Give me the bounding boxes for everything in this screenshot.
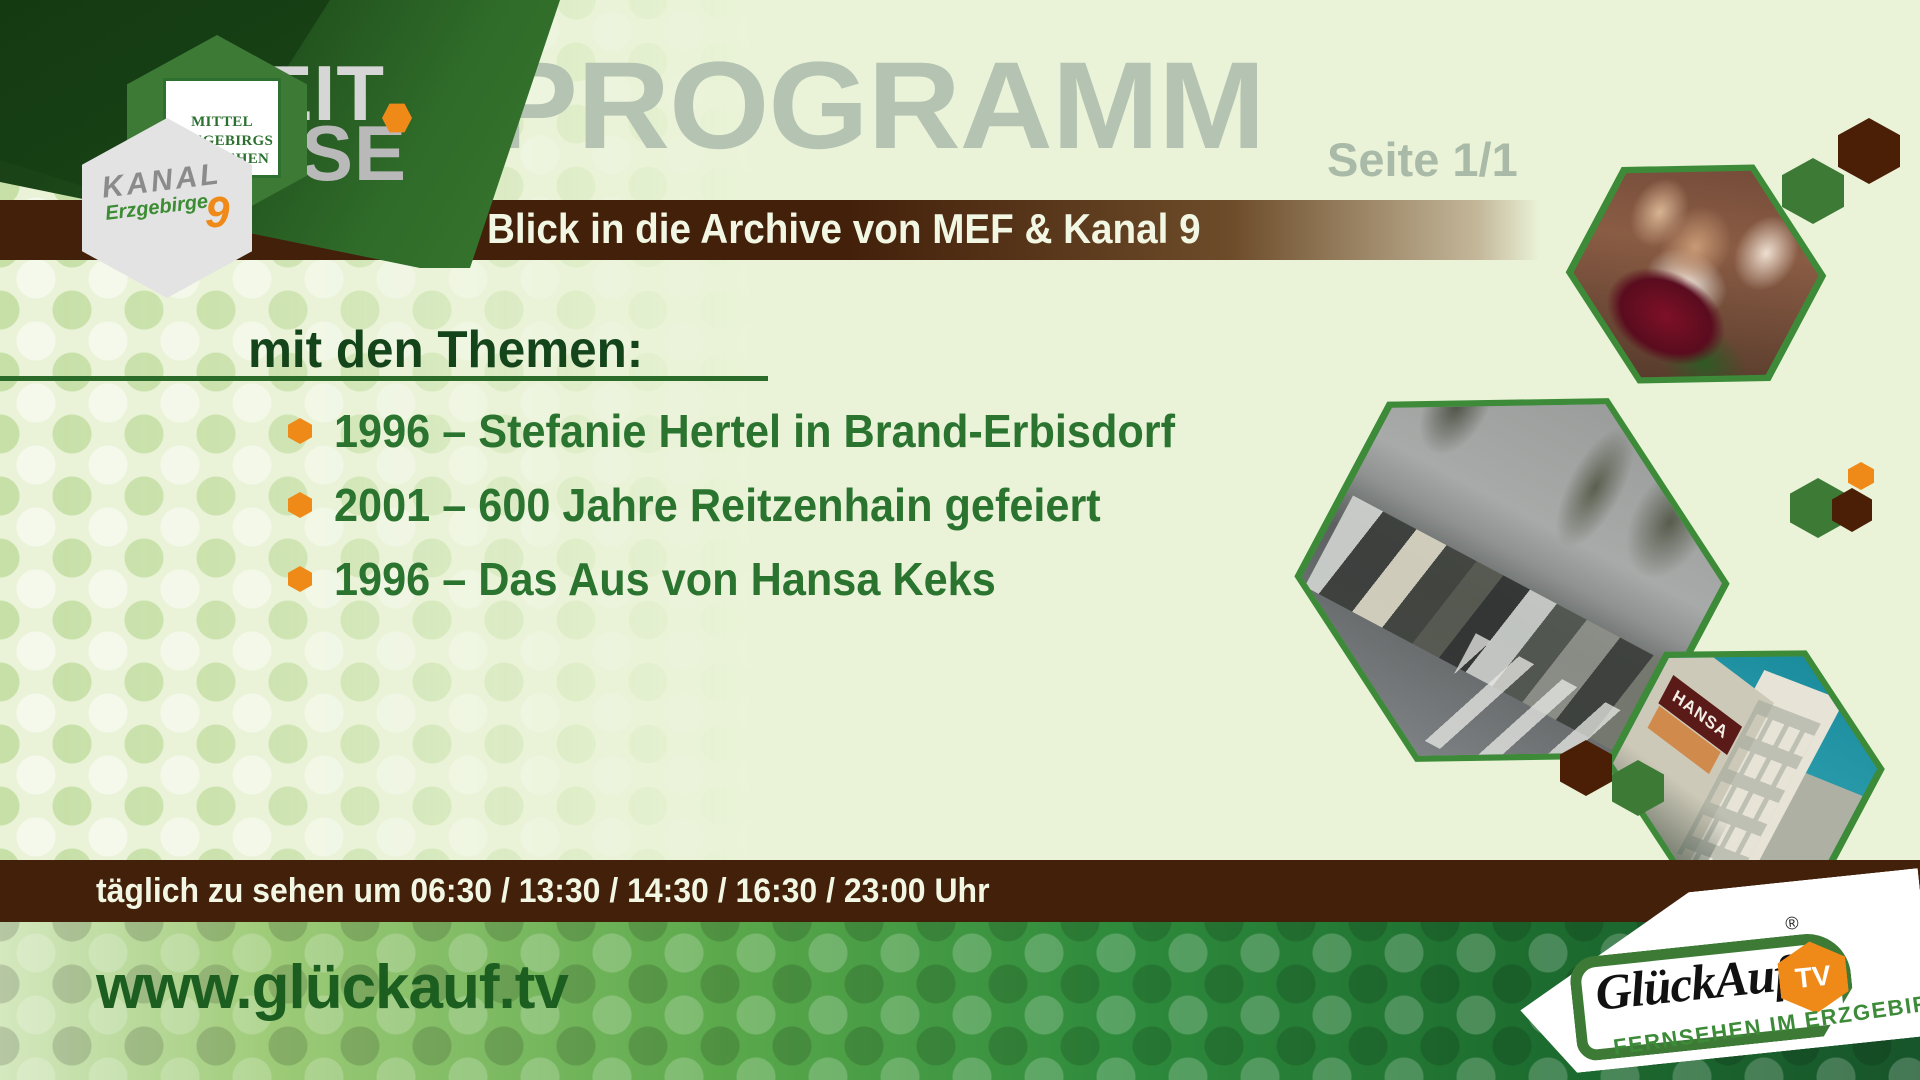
tv-badge-label: TV <box>1794 960 1833 996</box>
topics-heading: mit den Themen: <box>248 320 643 380</box>
schedule-text: täglich zu sehen um 06:30 / 13:30 / 14:3… <box>96 872 990 911</box>
orange-hexagon-bullet-icon <box>288 566 312 592</box>
list-item: 1996 – Stefanie Hertel in Brand-Erbisdor… <box>288 404 1229 458</box>
topic-label: 2001 – 600 Jahre Reitzenhain gefeiert <box>334 478 1101 532</box>
website-url[interactable]: www.glückauf.tv <box>96 952 568 1023</box>
topic-label: 1996 – Stefanie Hertel in Brand-Erbisdor… <box>334 404 1175 458</box>
page-title: PROGRAMM <box>492 44 1265 168</box>
page-subtitle: Blick in die Archive von MEF & Kanal 9 <box>487 205 1201 253</box>
kanal9-number: 9 <box>205 188 229 238</box>
page-indicator: Seite 1/1 <box>1327 132 1518 187</box>
orange-hexagon-bullet-icon <box>288 492 312 518</box>
list-item: 1996 – Das Aus von Hansa Keks <box>288 552 1038 606</box>
topic-label: 1996 – Das Aus von Hansa Keks <box>334 552 996 606</box>
orange-hexagon-bullet-icon <box>288 418 312 444</box>
registered-trademark-icon: ® <box>1784 913 1799 935</box>
mef-line-1: MITTEL <box>191 113 253 132</box>
list-item: 2001 – 600 Jahre Reitzenhain gefeiert <box>288 478 1150 532</box>
tv-program-slide: PROGRAMM Seite 1/1 Blick in die Archive … <box>0 0 1920 1080</box>
